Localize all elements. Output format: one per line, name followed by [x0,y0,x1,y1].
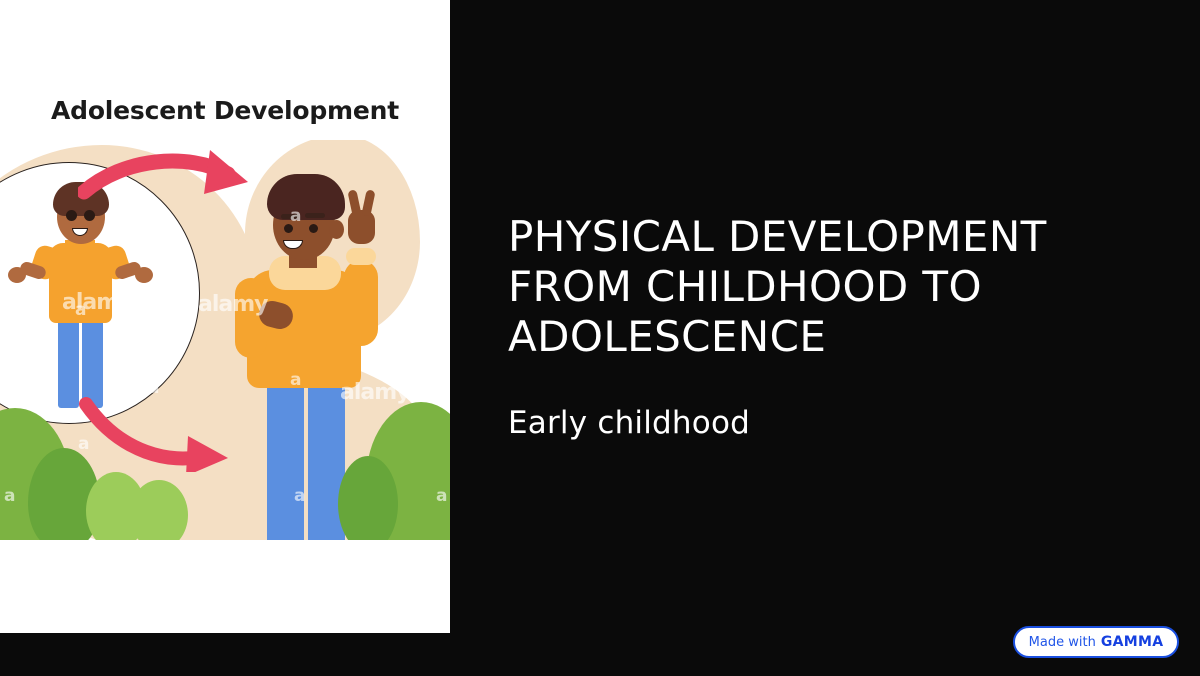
watermark-letter: a [418,352,429,372]
teen-hand-peace [348,210,375,244]
teen-cuff-right [346,248,376,265]
illustration-panel: Adolescent Development [0,0,450,633]
teen-eye-left [284,224,293,233]
slide-title-line-3: ADOLESCENCE [508,312,826,361]
presentation-slide: Adolescent Development [0,0,1200,676]
slide-text-content: PHYSICAL DEVELOPMENT FROM CHILDHOOD TO A… [508,212,1108,442]
watermark-letter: a [418,206,429,226]
teen-sleeve-right [344,260,378,346]
slide-title-line-1: PHYSICAL DEVELOPMENT [508,212,1047,261]
made-with-gamma-badge[interactable]: Made with GAMMA [1013,626,1179,658]
child-eye-left [66,210,77,221]
badge-prefix-label: Made with [1029,635,1096,650]
teen-eye-right [309,224,318,233]
gamma-wordmark: GAMMA [1101,634,1164,650]
teen-finger-middle [361,189,375,216]
teen-eyebrow-left [281,214,299,219]
illustration-artwork: a a a alamy alamy a a a a alamy a a a a [0,140,450,540]
slide-title-line-2: FROM CHILDHOOD TO [508,262,982,311]
slide-subtitle: Early childhood [508,404,1108,442]
curved-arrow-top-icon [78,144,268,224]
slide-title: PHYSICAL DEVELOPMENT FROM CHILDHOOD TO A… [508,212,1108,362]
teen-leg-left [267,372,304,540]
curved-arrow-bottom-icon [76,392,246,472]
child-hand-right [135,267,153,283]
teen-ear [329,220,344,239]
child-hand-left [8,267,26,283]
illustration-caption: Adolescent Development [0,96,450,125]
teen-finger-index [347,189,361,216]
teen-eyebrow-right [305,213,325,218]
